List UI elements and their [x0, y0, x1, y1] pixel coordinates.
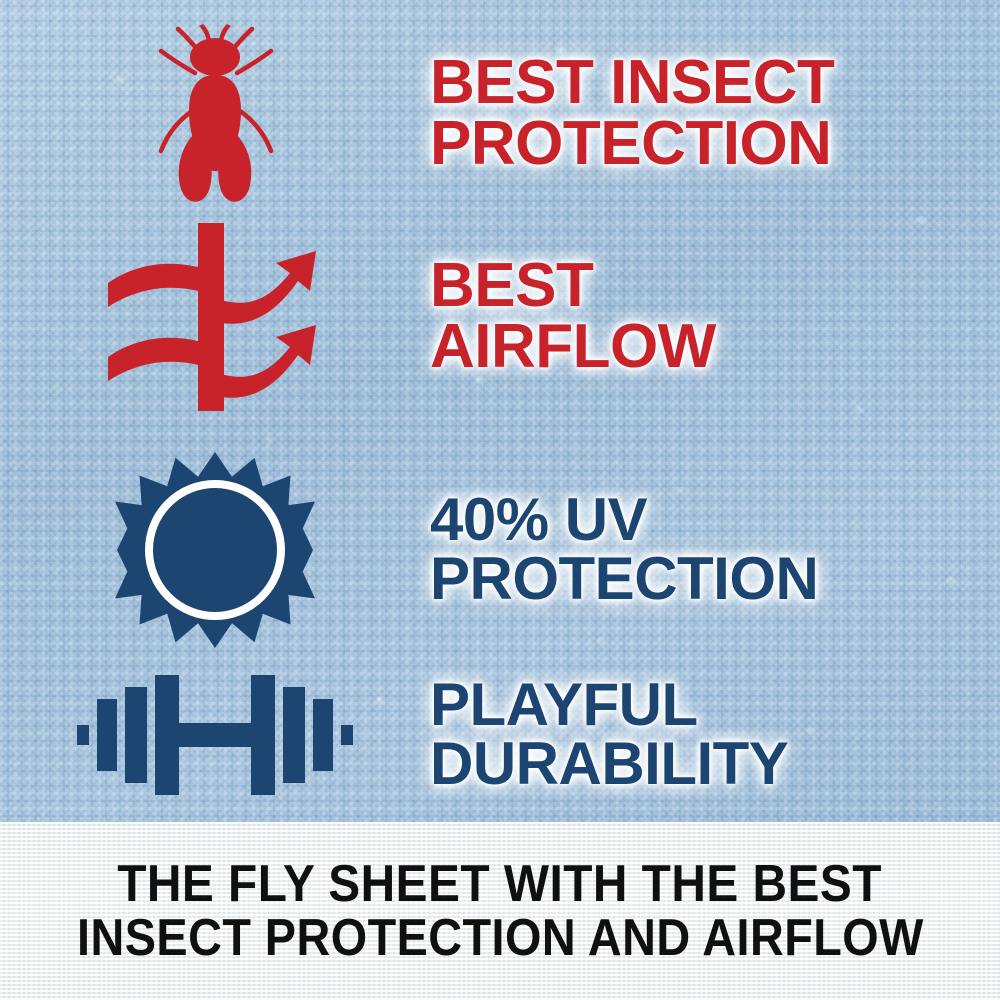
airflow-arrows-icon [100, 217, 330, 417]
feature-row-insect-protection: BEST INSECT PROTECTION [0, 18, 1000, 210]
fly-icon [145, 19, 285, 209]
label-cell-airflow: BEST AIRFLOW [430, 256, 1000, 378]
feature-label-durability: PLAYFUL DURABILITY [430, 676, 986, 794]
feature-row-uv-protection: 40% UV PROTECTION [0, 436, 1000, 664]
caption-band: THE FLY SHEET WITH THE BEST INSECT PROTE… [0, 822, 1000, 1000]
icon-cell-durability [0, 665, 430, 805]
feature-row-airflow: BEST AIRFLOW [0, 212, 1000, 422]
sun-icon [115, 450, 315, 650]
icon-cell-uv-protection [0, 450, 430, 650]
feature-list: BEST INSECT PROTECTION [0, 0, 1000, 822]
label-cell-uv-protection: 40% UV PROTECTION [430, 491, 1000, 609]
icon-cell-insect-protection [0, 19, 430, 209]
feature-label-airflow: BEST AIRFLOW [430, 256, 986, 378]
icon-cell-airflow [0, 217, 430, 417]
label-cell-durability: PLAYFUL DURABILITY [430, 676, 1000, 794]
label-cell-insect-protection: BEST INSECT PROTECTION [430, 53, 1000, 175]
dumbbell-icon [75, 665, 355, 805]
caption-line-1: THE FLY SHEET WITH THE BEST [118, 857, 883, 911]
feature-label-uv-protection: 40% UV PROTECTION [430, 491, 986, 609]
caption-line-2: INSECT PROTECTION AND AIRFLOW [77, 911, 924, 965]
product-feature-infographic: BEST INSECT PROTECTION [0, 0, 1000, 1000]
feature-label-insect-protection: BEST INSECT PROTECTION [430, 53, 986, 175]
feature-row-durability: PLAYFUL DURABILITY [0, 660, 1000, 810]
